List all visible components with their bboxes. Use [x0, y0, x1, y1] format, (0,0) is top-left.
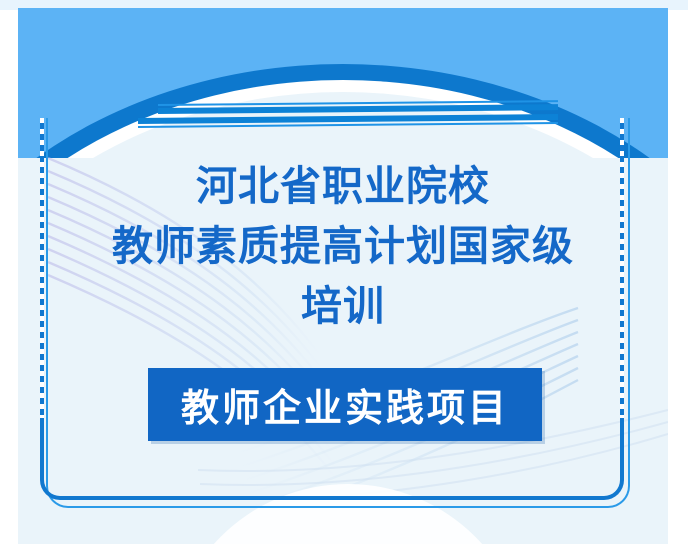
poster-title: 河北省职业院校 教师素质提高计划国家级 培训: [63, 156, 623, 336]
poster-root: 河北省职业院校 教师素质提高计划国家级 培训 教师企业实践项目: [0, 0, 688, 544]
title-line-1: 河北省职业院校: [63, 156, 623, 216]
poster-content: 河北省职业院校 教师素质提高计划国家级 培训 教师企业实践项目: [18, 8, 668, 544]
subtitle-banner: 教师企业实践项目: [148, 368, 542, 441]
title-line-3: 培训: [63, 276, 623, 336]
poster-card: 河北省职业院校 教师素质提高计划国家级 培训 教师企业实践项目: [18, 8, 668, 544]
subtitle-text: 教师企业实践项目: [181, 377, 509, 432]
title-line-2: 教师素质提高计划国家级: [63, 216, 623, 276]
